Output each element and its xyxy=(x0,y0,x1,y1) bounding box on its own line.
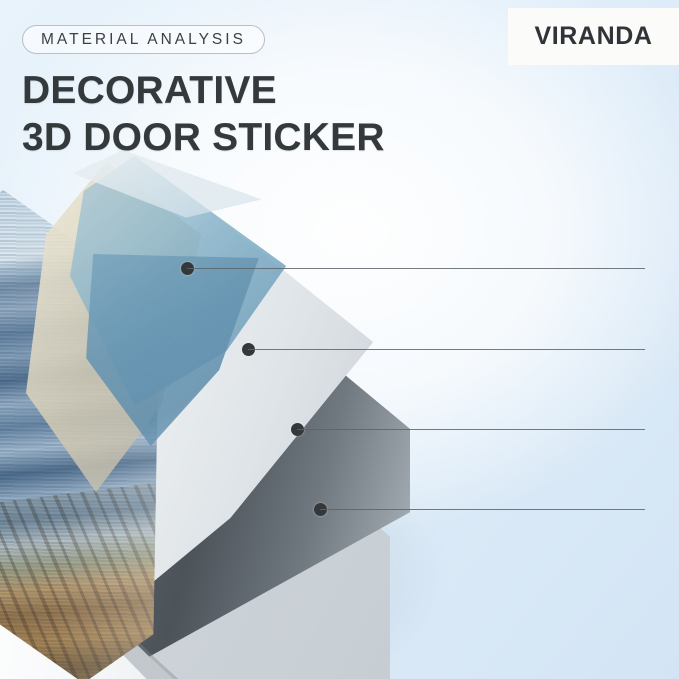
brand-name: VIRANDA xyxy=(534,22,652,51)
brand-logo: VIRANDA xyxy=(508,8,679,65)
callout-leader-line-waterproof xyxy=(187,268,645,269)
page-title: DECORATIVE 3D DOOR STICKER xyxy=(22,67,385,161)
callout-leader-line-bonding xyxy=(297,429,645,430)
callout-leader-line-backing xyxy=(320,509,645,510)
eyebrow-pill: MATERIAL ANALYSIS xyxy=(22,25,265,54)
eyebrow-label: MATERIAL ANALYSIS xyxy=(41,31,246,49)
callout-leader-line-hd-pattern xyxy=(248,349,645,350)
sticker-artwork xyxy=(0,150,420,679)
material-analysis-infographic: MATERIAL ANALYSIS DECORATIVE 3D DOOR STI… xyxy=(0,0,679,679)
